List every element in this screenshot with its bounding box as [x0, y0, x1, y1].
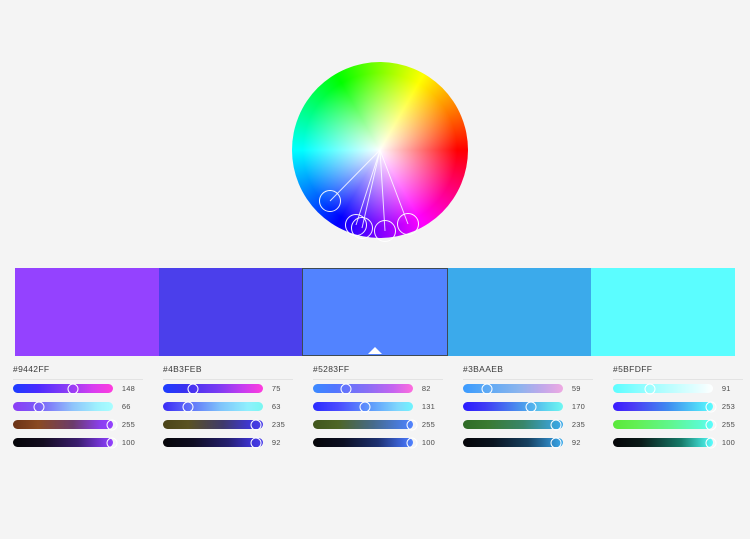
hue-slider-gradient: [163, 384, 263, 393]
selected-swatch-caret-icon: [368, 347, 382, 354]
brightness-slider-gradient: [13, 420, 113, 429]
hue-slider-knob[interactable]: [187, 383, 198, 394]
saturation-slider-track[interactable]: [313, 402, 413, 411]
hue-slider-knob[interactable]: [67, 383, 78, 394]
saturation-slider-knob[interactable]: [705, 401, 716, 412]
slider-row-saturation: 63: [163, 398, 293, 415]
saturation-slider-gradient: [463, 402, 563, 411]
brightness-slider-gradient: [313, 420, 413, 429]
alpha-slider-track[interactable]: [463, 438, 563, 447]
slider-row-brightness: 235: [163, 416, 293, 433]
brightness-slider-gradient: [613, 420, 713, 429]
hue-slider-value: 75: [272, 384, 293, 393]
slider-row-alpha: 92: [463, 434, 593, 451]
alpha-slider-value: 100: [122, 438, 143, 447]
slider-row-saturation: 131: [313, 398, 443, 415]
color-hex-label: #5BFDFF: [613, 364, 743, 375]
brightness-slider-knob[interactable]: [250, 419, 261, 430]
color-hex-label: #4B3FEB: [163, 364, 293, 375]
saturation-slider-value: 170: [572, 402, 593, 411]
brightness-slider-knob[interactable]: [406, 419, 417, 430]
hue-slider-track[interactable]: [163, 384, 263, 393]
brightness-slider-track[interactable]: [463, 420, 563, 429]
column-divider: [163, 379, 293, 380]
brightness-slider-value: 255: [122, 420, 143, 429]
slider-row-brightness: 255: [613, 416, 743, 433]
color-picker-app: #9442FF14866255100#4B3FEB756323592#5283F…: [0, 0, 750, 539]
wheel-handles[interactable]: [292, 62, 468, 238]
slider-row-brightness: 255: [13, 416, 143, 433]
hue-slider-gradient: [13, 384, 113, 393]
slider-row-brightness: 255: [313, 416, 443, 433]
hue-slider-gradient: [313, 384, 413, 393]
palette-swatch-strip[interactable]: [15, 268, 735, 356]
saturation-slider-knob[interactable]: [525, 401, 536, 412]
saturation-slider-knob[interactable]: [33, 401, 44, 412]
alpha-slider-knob[interactable]: [250, 437, 261, 448]
alpha-slider-value: 100: [422, 438, 443, 447]
hue-slider-value: 82: [422, 384, 443, 393]
slider-row-hue: 148: [13, 380, 143, 397]
color-column-4: #3BAAEB5917023592: [450, 364, 600, 474]
alpha-slider-track[interactable]: [613, 438, 713, 447]
alpha-slider-value: 92: [572, 438, 593, 447]
hue-slider-track[interactable]: [463, 384, 563, 393]
wheel-handle-5[interactable]: [397, 213, 419, 235]
hue-slider-value: 91: [722, 384, 743, 393]
saturation-slider-knob[interactable]: [359, 401, 370, 412]
swatch-2[interactable]: [159, 268, 303, 356]
saturation-slider-track[interactable]: [613, 402, 713, 411]
alpha-slider-gradient: [463, 438, 563, 447]
brightness-slider-value: 255: [722, 420, 743, 429]
hue-slider-value: 148: [122, 384, 143, 393]
hue-slider-knob[interactable]: [481, 383, 492, 394]
column-divider: [613, 379, 743, 380]
saturation-slider-value: 66: [122, 402, 143, 411]
brightness-slider-knob[interactable]: [705, 419, 716, 430]
alpha-slider-gradient: [613, 438, 713, 447]
slider-row-hue: 91: [613, 380, 743, 397]
saturation-slider-knob[interactable]: [182, 401, 193, 412]
color-hex-label: #9442FF: [13, 364, 143, 375]
saturation-slider-track[interactable]: [463, 402, 563, 411]
column-divider: [463, 379, 593, 380]
alpha-slider-knob[interactable]: [705, 437, 716, 448]
alpha-slider-gradient: [13, 438, 113, 447]
brightness-slider-track[interactable]: [613, 420, 713, 429]
alpha-slider-knob[interactable]: [106, 437, 117, 448]
color-column-2: #4B3FEB756323592: [150, 364, 300, 474]
column-divider: [313, 379, 443, 380]
brightness-slider-gradient: [463, 420, 563, 429]
color-channel-columns: #9442FF14866255100#4B3FEB756323592#5283F…: [0, 364, 750, 474]
saturation-slider-gradient: [163, 402, 263, 411]
color-column-3: #5283FF82131255100: [300, 364, 450, 474]
alpha-slider-gradient: [313, 438, 413, 447]
hue-slider-knob[interactable]: [340, 383, 351, 394]
slider-row-saturation: 253: [613, 398, 743, 415]
alpha-slider-knob[interactable]: [406, 437, 417, 448]
brightness-slider-knob[interactable]: [550, 419, 561, 430]
alpha-slider-track[interactable]: [13, 438, 113, 447]
brightness-slider-value: 235: [572, 420, 593, 429]
saturation-slider-gradient: [13, 402, 113, 411]
alpha-slider-value: 100: [722, 438, 743, 447]
wheel-handle-4[interactable]: [374, 220, 396, 242]
swatch-4[interactable]: [448, 268, 592, 356]
swatch-1[interactable]: [15, 268, 159, 356]
hue-slider-track[interactable]: [613, 384, 713, 393]
hue-slider-gradient: [613, 384, 713, 393]
slider-row-saturation: 170: [463, 398, 593, 415]
hue-slider-track[interactable]: [13, 384, 113, 393]
slider-row-brightness: 235: [463, 416, 593, 433]
brightness-slider-track[interactable]: [313, 420, 413, 429]
column-divider: [13, 379, 143, 380]
color-wheel-area: [0, 0, 750, 262]
swatch-3[interactable]: [302, 268, 448, 356]
hue-slider-value: 59: [572, 384, 593, 393]
alpha-slider-gradient: [163, 438, 263, 447]
alpha-slider-track[interactable]: [313, 438, 413, 447]
color-hex-label: #3BAAEB: [463, 364, 593, 375]
alpha-slider-track[interactable]: [163, 438, 263, 447]
alpha-slider-knob[interactable]: [550, 437, 561, 448]
slider-row-alpha: 100: [613, 434, 743, 451]
brightness-slider-track[interactable]: [13, 420, 113, 429]
swatch-5[interactable]: [591, 268, 735, 356]
hue-slider-knob[interactable]: [644, 383, 655, 394]
color-column-1: #9442FF14866255100: [0, 364, 150, 474]
brightness-slider-gradient: [163, 420, 263, 429]
hue-slider-track[interactable]: [313, 384, 413, 393]
saturation-slider-track[interactable]: [163, 402, 263, 411]
saturation-slider-track[interactable]: [13, 402, 113, 411]
slider-row-saturation: 66: [13, 398, 143, 415]
brightness-slider-track[interactable]: [163, 420, 263, 429]
hue-slider-gradient: [463, 384, 563, 393]
slider-row-hue: 82: [313, 380, 443, 397]
brightness-slider-value: 235: [272, 420, 293, 429]
saturation-slider-value: 253: [722, 402, 743, 411]
saturation-slider-value: 131: [422, 402, 443, 411]
alpha-slider-value: 92: [272, 438, 293, 447]
color-hex-label: #5283FF: [313, 364, 443, 375]
wheel-handle-1[interactable]: [319, 190, 341, 212]
slider-row-hue: 75: [163, 380, 293, 397]
color-column-5: #5BFDFF91253255100: [600, 364, 750, 474]
color-wheel-wrapper[interactable]: [292, 62, 468, 238]
slider-row-alpha: 100: [313, 434, 443, 451]
slider-row-hue: 59: [463, 380, 593, 397]
wheel-handle-3[interactable]: [351, 217, 373, 239]
slider-row-alpha: 92: [163, 434, 293, 451]
saturation-slider-gradient: [613, 402, 713, 411]
slider-row-alpha: 100: [13, 434, 143, 451]
brightness-slider-value: 255: [422, 420, 443, 429]
brightness-slider-knob[interactable]: [106, 419, 117, 430]
saturation-slider-value: 63: [272, 402, 293, 411]
